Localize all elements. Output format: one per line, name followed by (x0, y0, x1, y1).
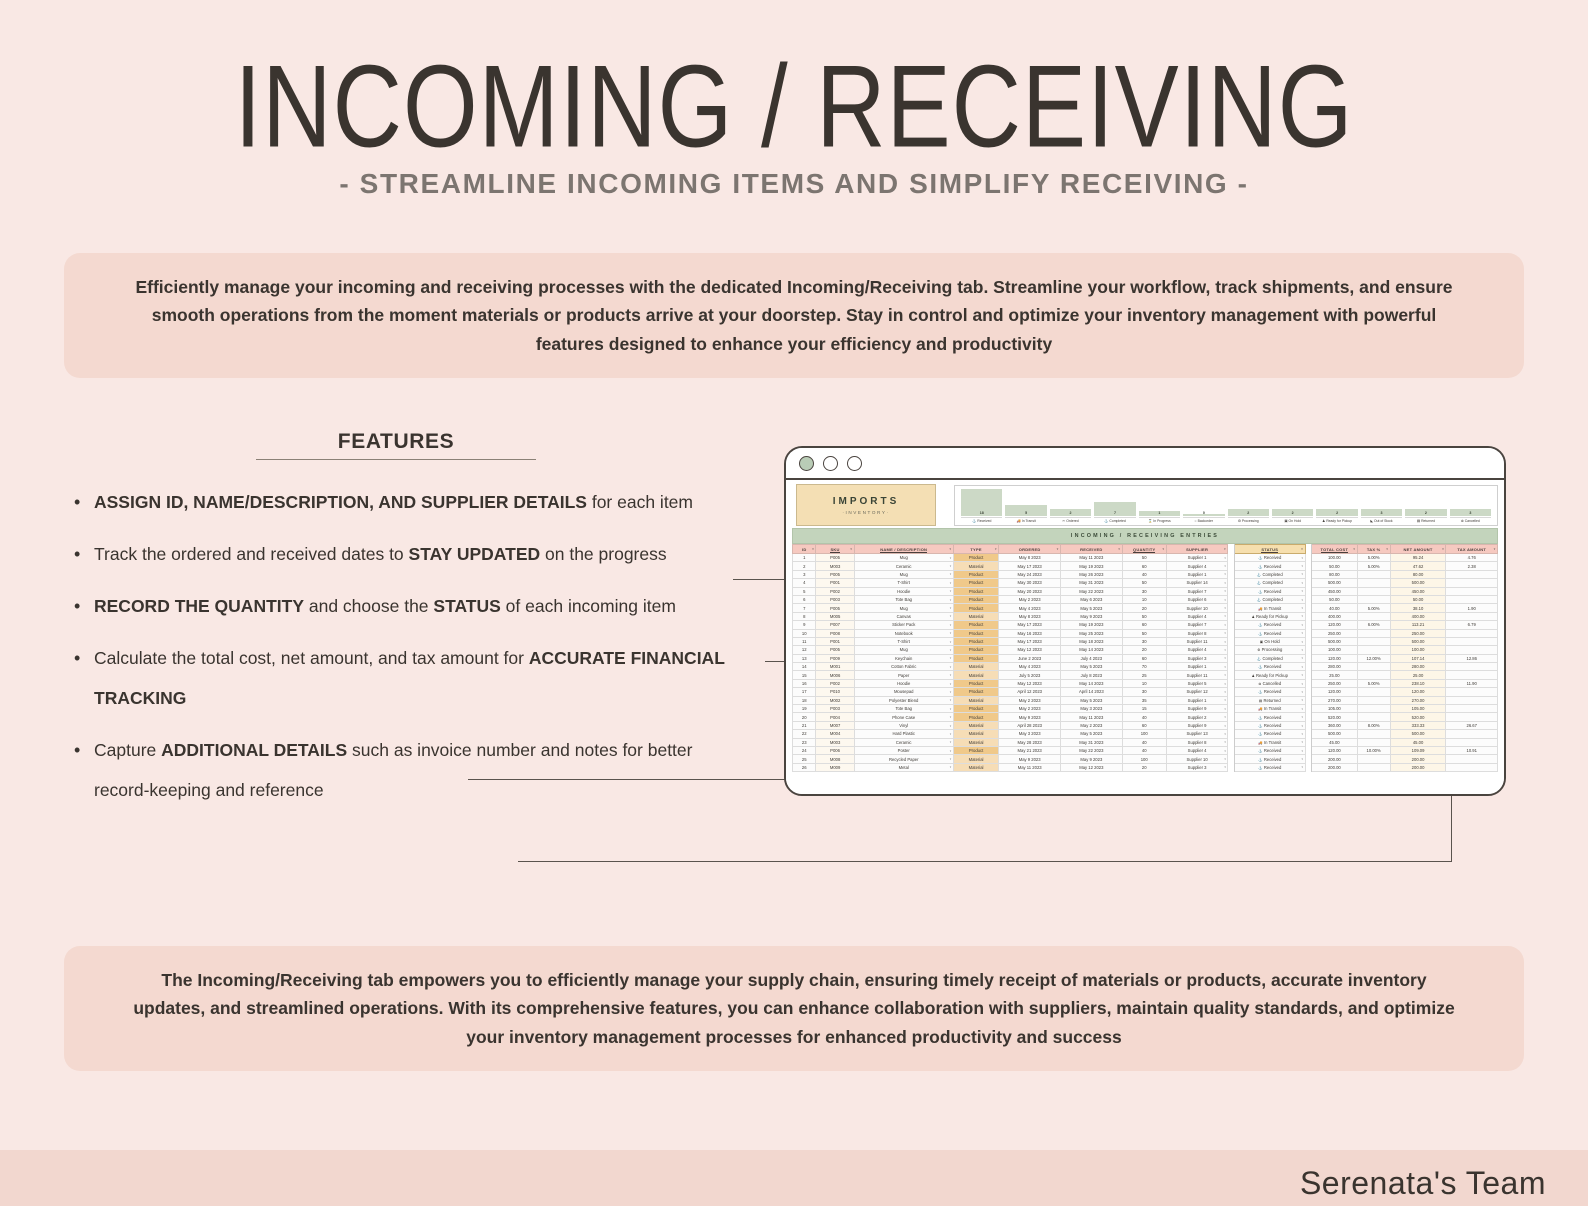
chevron-down-icon[interactable]: ▾ (950, 581, 952, 585)
cell-name[interactable]: Ceramic▾ (854, 738, 953, 746)
cell-type[interactable]: Material (953, 755, 999, 763)
cell-received[interactable]: May 5 2023 (1061, 730, 1123, 738)
chevron-down-icon[interactable]: ▾ (950, 631, 952, 635)
cell-supplier[interactable]: Supplier 1▾ (1166, 696, 1228, 704)
cell-net-amount[interactable]: 500.00 (1390, 579, 1446, 587)
cell-tax-amount[interactable] (1446, 637, 1498, 645)
cell-tax-pct[interactable] (1357, 755, 1390, 763)
cell-supplier[interactable]: Supplier 3▾ (1166, 654, 1228, 662)
cell-name[interactable]: Recycled Paper▾ (854, 755, 953, 763)
cell-net-amount[interactable]: 107.14 (1390, 654, 1446, 662)
chevron-down-icon[interactable]: ▾ (950, 690, 952, 694)
chevron-down-icon[interactable]: ▾ (1224, 614, 1226, 618)
cell-received[interactable]: May 18 2023 (1061, 637, 1123, 645)
cell-supplier[interactable]: Supplier 6▾ (1166, 595, 1228, 603)
cell-tax-amount[interactable] (1446, 696, 1498, 704)
cell-tax-amount[interactable]: 11.90 (1446, 679, 1498, 687)
cell-tax-pct[interactable] (1357, 738, 1390, 746)
cell-tax-amount[interactable]: 4.76 (1446, 554, 1498, 562)
cell-received[interactable]: May 31 2023 (1061, 738, 1123, 746)
table-row[interactable]: 20P004Phone Case▾ProductMay 9 2023May 11… (793, 713, 1498, 721)
cell-status[interactable]: ⚓Received▾ (1235, 763, 1305, 771)
table-row[interactable]: 24P006Poster▾ProductMay 21 2023May 22 20… (793, 746, 1498, 754)
col-status[interactable]: STATUS▾ (1235, 545, 1305, 554)
cell-sku[interactable]: M005 (816, 612, 854, 620)
cell-sku[interactable]: P008 (816, 629, 854, 637)
cell-total-cost[interactable]: 280.00 (1312, 663, 1358, 671)
cell-quantity[interactable]: 30 (1122, 587, 1166, 595)
cell-status[interactable]: 🚚In Transit▾ (1235, 604, 1305, 612)
cell-ordered[interactable]: May 17 2023 (999, 621, 1061, 629)
cell-net-amount[interactable]: 400.00 (1390, 612, 1446, 620)
cell-received[interactable]: May 9 2023 (1061, 612, 1123, 620)
cell-sku[interactable]: M006 (816, 671, 854, 679)
chevron-down-icon[interactable]: ▾ (950, 707, 952, 711)
cell-supplier[interactable]: Supplier 12▾ (1166, 688, 1228, 696)
cell-type[interactable]: Material (953, 696, 999, 704)
cell-status[interactable]: ⚙Processing▾ (1235, 646, 1305, 654)
cell-total-cost[interactable]: 105.00 (1312, 705, 1358, 713)
cell-name[interactable]: Keychain▾ (854, 654, 953, 662)
chevron-down-icon[interactable]: ▾ (1224, 707, 1226, 711)
filter-icon[interactable]: ▾ (1353, 547, 1355, 551)
cell-quantity[interactable]: 100 (1122, 755, 1166, 763)
cell-id[interactable]: 7 (793, 604, 816, 612)
cell-type[interactable]: Product (953, 637, 999, 645)
chevron-down-icon[interactable]: ▾ (1302, 715, 1304, 719)
cell-quantity[interactable]: 70 (1122, 663, 1166, 671)
chevron-down-icon[interactable]: ▾ (1224, 631, 1226, 635)
cell-received[interactable]: May 22 2023 (1061, 746, 1123, 754)
cell-status[interactable]: 🚚In Transit▾ (1235, 705, 1305, 713)
col-sku[interactable]: SKU▾ (816, 545, 854, 554)
cell-tax-amount[interactable]: 10.91 (1446, 746, 1498, 754)
cell-ordered[interactable]: May 2 2023 (999, 696, 1061, 704)
cell-quantity[interactable]: 60 (1122, 654, 1166, 662)
table-row[interactable]: 2M003Ceramic▾MaterialMay 17 2023May 19 2… (793, 562, 1498, 570)
cell-received[interactable]: May 5 2023 (1061, 696, 1123, 704)
chevron-down-icon[interactable]: ▾ (1224, 640, 1226, 644)
cell-sku[interactable]: P007 (816, 621, 854, 629)
table-row[interactable]: 21M007Vinyl▾MaterialApril 28 2023May 2 2… (793, 721, 1498, 729)
chevron-down-icon[interactable]: ▾ (1302, 740, 1304, 744)
chevron-down-icon[interactable]: ▾ (1224, 598, 1226, 602)
cell-name[interactable]: T-Shirt▾ (854, 637, 953, 645)
cell-received[interactable]: May 19 2023 (1061, 621, 1123, 629)
cell-id[interactable]: 8 (793, 612, 816, 620)
cell-tax-pct[interactable]: 8.00% (1357, 721, 1390, 729)
cell-tax-amount[interactable] (1446, 587, 1498, 595)
table-row[interactable]: 13P009Keychain▾ProductJune 2 2023July 4 … (793, 654, 1498, 662)
table-row[interactable]: 9P007Sticker Pack▾ProductMay 17 2023May … (793, 621, 1498, 629)
cell-net-amount[interactable]: 280.00 (1390, 663, 1446, 671)
cell-quantity[interactable]: 30 (1122, 688, 1166, 696)
cell-supplier[interactable]: Supplier 13▾ (1166, 730, 1228, 738)
chevron-down-icon[interactable]: ▾ (1302, 640, 1304, 644)
chevron-down-icon[interactable]: ▾ (1302, 673, 1304, 677)
table-row[interactable]: 1P005Mug▾ProductMay 8 2023May 11 202350S… (793, 554, 1498, 562)
cell-id[interactable]: 17 (793, 688, 816, 696)
cell-total-cost[interactable]: 500.00 (1312, 730, 1358, 738)
cell-id[interactable]: 9 (793, 621, 816, 629)
cell-tax-pct[interactable] (1357, 612, 1390, 620)
cell-status[interactable]: ⚓Received▾ (1235, 554, 1305, 562)
cell-supplier[interactable]: Supplier 10▾ (1166, 755, 1228, 763)
cell-id[interactable]: 21 (793, 721, 816, 729)
cell-tax-pct[interactable]: 10.00% (1357, 746, 1390, 754)
cell-status[interactable]: ⚓Received▾ (1235, 688, 1305, 696)
cell-net-amount[interactable]: 100.00 (1390, 646, 1446, 654)
table-row[interactable]: 4P001T-Shirt▾ProductMay 30 2023May 31 20… (793, 579, 1498, 587)
cell-sku[interactable]: M004 (816, 730, 854, 738)
cell-id[interactable]: 15 (793, 671, 816, 679)
cell-total-cost[interactable]: 50.00 (1312, 595, 1358, 603)
cell-name[interactable]: Cotton Fabric▾ (854, 663, 953, 671)
chevron-down-icon[interactable]: ▾ (1302, 757, 1304, 761)
cell-tax-pct[interactable] (1357, 696, 1390, 704)
table-row[interactable]: 3P005Mug▾ProductMay 24 2023May 26 202340… (793, 570, 1498, 578)
cell-received[interactable]: July 8 2023 (1061, 671, 1123, 679)
cell-quantity[interactable]: 20 (1122, 646, 1166, 654)
cell-tax-amount[interactable] (1446, 629, 1498, 637)
cell-type[interactable]: Product (953, 621, 999, 629)
cell-received[interactable]: May 9 2023 (1061, 755, 1123, 763)
cell-total-cost[interactable]: 200.00 (1312, 755, 1358, 763)
cell-name[interactable]: Phone Case▾ (854, 713, 953, 721)
cell-tax-pct[interactable] (1357, 705, 1390, 713)
cell-net-amount[interactable]: 450.00 (1390, 587, 1446, 595)
cell-status[interactable]: ⚓Completed▾ (1235, 654, 1305, 662)
cell-name[interactable]: Mug▾ (854, 646, 953, 654)
chevron-down-icon[interactable]: ▾ (950, 572, 952, 576)
col-quantity[interactable]: QUANTITY▾ (1122, 545, 1166, 554)
cell-type[interactable]: Product (953, 746, 999, 754)
cell-ordered[interactable]: May 8 2023 (999, 612, 1061, 620)
cell-total-cost[interactable]: 520.00 (1312, 713, 1358, 721)
cell-net-amount[interactable]: 250.00 (1390, 629, 1446, 637)
chevron-down-icon[interactable]: ▾ (950, 598, 952, 602)
cell-type[interactable]: Material (953, 730, 999, 738)
chevron-down-icon[interactable]: ▾ (1224, 732, 1226, 736)
cell-type[interactable]: Product (953, 646, 999, 654)
cell-received[interactable]: May 14 2023 (1061, 646, 1123, 654)
cell-supplier[interactable]: Supplier 5▾ (1166, 679, 1228, 687)
chevron-down-icon[interactable]: ▾ (950, 715, 952, 719)
cell-name[interactable]: T-Shirt▾ (854, 579, 953, 587)
cell-id[interactable]: 5 (793, 587, 816, 595)
cell-sku[interactable]: P003 (816, 595, 854, 603)
cell-type[interactable]: Product (953, 587, 999, 595)
cell-status[interactable]: ⚓Received▾ (1235, 587, 1305, 595)
cell-type[interactable]: Material (953, 763, 999, 771)
cell-total-cost[interactable]: 40.00 (1312, 604, 1358, 612)
cell-name[interactable]: Mousepad▾ (854, 688, 953, 696)
chevron-down-icon[interactable]: ▾ (1224, 589, 1226, 593)
cell-total-cost[interactable]: 500.00 (1312, 637, 1358, 645)
cell-tax-amount[interactable] (1446, 755, 1498, 763)
chevron-down-icon[interactable]: ▾ (950, 665, 952, 669)
chevron-down-icon[interactable]: ▾ (950, 656, 952, 660)
cell-ordered[interactable]: June 2 2023 (999, 654, 1061, 662)
chevron-down-icon[interactable]: ▾ (1224, 682, 1226, 686)
cell-type[interactable]: Product (953, 629, 999, 637)
cell-received[interactable]: May 2 2023 (1061, 721, 1123, 729)
cell-supplier[interactable]: Supplier 4▾ (1166, 646, 1228, 654)
chevron-down-icon[interactable]: ▾ (1302, 589, 1304, 593)
cell-tax-pct[interactable] (1357, 713, 1390, 721)
chevron-down-icon[interactable]: ▾ (1302, 749, 1304, 753)
cell-type[interactable]: Material (953, 721, 999, 729)
cell-total-cost[interactable]: 250.00 (1312, 629, 1358, 637)
cell-sku[interactable]: P006 (816, 746, 854, 754)
cell-sku[interactable]: P004 (816, 713, 854, 721)
chevron-down-icon[interactable]: ▾ (950, 673, 952, 677)
cell-status[interactable]: ▣On Hold▾ (1235, 637, 1305, 645)
cell-received[interactable]: May 3 2023 (1061, 705, 1123, 713)
cell-tax-amount[interactable] (1446, 738, 1498, 746)
chevron-down-icon[interactable]: ▾ (1224, 665, 1226, 669)
cell-sku[interactable]: M001 (816, 663, 854, 671)
table-row[interactable]: 6P003Tote Bag▾ProductMay 2 2023May 6 202… (793, 595, 1498, 603)
cell-quantity[interactable]: 50 (1122, 554, 1166, 562)
cell-tax-amount[interactable]: 2.38 (1446, 562, 1498, 570)
cell-type[interactable]: Product (953, 713, 999, 721)
chevron-down-icon[interactable]: ▾ (1302, 623, 1304, 627)
cell-id[interactable]: 2 (793, 562, 816, 570)
cell-sku[interactable]: M007 (816, 721, 854, 729)
cell-net-amount[interactable]: 80.00 (1390, 570, 1446, 578)
cell-sku[interactable]: P002 (816, 679, 854, 687)
cell-total-cost[interactable]: 120.00 (1312, 654, 1358, 662)
cell-tax-amount[interactable]: 26.67 (1446, 721, 1498, 729)
cell-received[interactable]: May 19 2023 (1061, 562, 1123, 570)
cell-status[interactable]: ⚓Completed▾ (1235, 595, 1305, 603)
cell-tax-amount[interactable] (1446, 671, 1498, 679)
cell-supplier[interactable]: Supplier 4▾ (1166, 746, 1228, 754)
cell-total-cost[interactable]: 25.00 (1312, 671, 1358, 679)
chevron-down-icon[interactable]: ▾ (1224, 724, 1226, 728)
col-tax-amount[interactable]: TAX AMOUNT▾ (1446, 545, 1498, 554)
cell-type[interactable]: Product (953, 679, 999, 687)
col-id[interactable]: ID▾ (793, 545, 816, 554)
cell-net-amount[interactable]: 500.00 (1390, 637, 1446, 645)
cell-quantity[interactable]: 50 (1122, 579, 1166, 587)
cell-quantity[interactable]: 15 (1122, 705, 1166, 713)
table-row[interactable]: 14M001Cotton Fabric▾MaterialMay 4 2023Ma… (793, 663, 1498, 671)
cell-type[interactable]: Product (953, 579, 999, 587)
cell-net-amount[interactable]: 25.00 (1390, 671, 1446, 679)
cell-id[interactable]: 3 (793, 570, 816, 578)
cell-tax-pct[interactable] (1357, 595, 1390, 603)
cell-sku[interactable]: P003 (816, 705, 854, 713)
cell-total-cost[interactable]: 50.00 (1312, 562, 1358, 570)
chevron-down-icon[interactable]: ▾ (1302, 581, 1304, 585)
cell-sku[interactable]: P002 (816, 587, 854, 595)
cell-type[interactable]: Product (953, 554, 999, 562)
cell-ordered[interactable]: April 12 2023 (999, 688, 1061, 696)
chevron-down-icon[interactable]: ▾ (950, 757, 952, 761)
chevron-down-icon[interactable]: ▾ (950, 623, 952, 627)
cell-ordered[interactable]: May 24 2023 (999, 570, 1061, 578)
cell-id[interactable]: 4 (793, 579, 816, 587)
cell-quantity[interactable]: 40 (1122, 713, 1166, 721)
cell-net-amount[interactable]: 105.00 (1390, 705, 1446, 713)
cell-net-amount[interactable]: 200.00 (1390, 755, 1446, 763)
cell-ordered[interactable]: May 21 2023 (999, 746, 1061, 754)
cell-supplier[interactable]: Supplier 14▾ (1166, 579, 1228, 587)
filter-icon[interactable]: ▾ (1118, 547, 1120, 551)
cell-total-cost[interactable]: 270.00 (1312, 696, 1358, 704)
cell-net-amount[interactable]: 113.21 (1390, 621, 1446, 629)
chevron-down-icon[interactable]: ▾ (1224, 648, 1226, 652)
cell-tax-pct[interactable]: 12.00% (1357, 654, 1390, 662)
chevron-down-icon[interactable]: ▾ (1302, 564, 1304, 568)
cell-status[interactable]: ⚓Received▾ (1235, 562, 1305, 570)
table-row[interactable]: 17P010Mousepad▾ProductApril 12 2023April… (793, 688, 1498, 696)
cell-net-amount[interactable]: 45.00 (1390, 738, 1446, 746)
cell-net-amount[interactable]: 120.00 (1390, 688, 1446, 696)
cell-status[interactable]: ⚓Received▾ (1235, 629, 1305, 637)
cell-name[interactable]: Tote Bag▾ (854, 595, 953, 603)
chevron-down-icon[interactable]: ▾ (1302, 614, 1304, 618)
cell-tax-amount[interactable] (1446, 763, 1498, 771)
cell-ordered[interactable]: May 2 2023 (999, 595, 1061, 603)
cell-quantity[interactable]: 40 (1122, 746, 1166, 754)
cell-received[interactable]: May 22 2023 (1061, 587, 1123, 595)
cell-status[interactable]: ♟Ready for Pickup▾ (1235, 671, 1305, 679)
cell-status[interactable]: ⚓Received▾ (1235, 746, 1305, 754)
cell-tax-pct[interactable]: 5.00% (1357, 562, 1390, 570)
cell-name[interactable]: Vinyl▾ (854, 721, 953, 729)
chevron-down-icon[interactable]: ▾ (950, 724, 952, 728)
cell-total-cost[interactable]: 500.00 (1312, 579, 1358, 587)
cell-tax-amount[interactable]: 12.86 (1446, 654, 1498, 662)
cell-sku[interactable]: P005 (816, 554, 854, 562)
chevron-down-icon[interactable]: ▾ (1224, 765, 1226, 769)
chevron-down-icon[interactable]: ▾ (1224, 749, 1226, 753)
cell-status[interactable]: 🚚In Transit▾ (1235, 738, 1305, 746)
cell-name[interactable]: Mug▾ (854, 604, 953, 612)
cell-quantity[interactable]: 10 (1122, 679, 1166, 687)
cell-received[interactable]: April 14 2023 (1061, 688, 1123, 696)
cell-quantity[interactable]: 10 (1122, 595, 1166, 603)
col-name[interactable]: NAME / DESCRIPTION▾ (854, 545, 953, 554)
cell-type[interactable]: Material (953, 663, 999, 671)
col-total-cost[interactable]: TOTAL COST▾ (1312, 545, 1358, 554)
cell-received[interactable]: May 12 2023 (1061, 763, 1123, 771)
filter-icon[interactable]: ▾ (1057, 547, 1059, 551)
cell-ordered[interactable]: April 28 2023 (999, 721, 1061, 729)
cell-sku[interactable]: M002 (816, 696, 854, 704)
table-row[interactable]: 5P002Hoodie▾ProductMay 20 2023May 22 202… (793, 587, 1498, 595)
cell-tax-pct[interactable] (1357, 646, 1390, 654)
cell-ordered[interactable]: May 12 2023 (999, 646, 1061, 654)
col-tax-pct[interactable]: TAX %▾ (1357, 545, 1390, 554)
cell-tax-pct[interactable]: 5.00% (1357, 554, 1390, 562)
cell-sku[interactable]: P001 (816, 637, 854, 645)
cell-id[interactable]: 24 (793, 746, 816, 754)
cell-tax-pct[interactable] (1357, 637, 1390, 645)
cell-supplier[interactable]: Supplier 10▾ (1166, 604, 1228, 612)
cell-total-cost[interactable]: 80.00 (1312, 570, 1358, 578)
cell-ordered[interactable]: May 11 2023 (999, 763, 1061, 771)
cell-supplier[interactable]: Supplier 11▾ (1166, 671, 1228, 679)
cell-total-cost[interactable]: 120.00 (1312, 746, 1358, 754)
cell-ordered[interactable]: May 28 2023 (999, 738, 1061, 746)
chevron-down-icon[interactable]: ▾ (950, 589, 952, 593)
cell-quantity[interactable]: 40 (1122, 738, 1166, 746)
cell-sku[interactable]: P005 (816, 570, 854, 578)
cell-id[interactable]: 12 (793, 646, 816, 654)
cell-status[interactable]: ▤Returned▾ (1235, 696, 1305, 704)
cell-quantity[interactable]: 20 (1122, 763, 1166, 771)
cell-name[interactable]: Canvas▾ (854, 612, 953, 620)
table-row[interactable]: 11P001T-Shirt▾ProductMay 17 2023May 18 2… (793, 637, 1498, 645)
cell-net-amount[interactable]: 95.24 (1390, 554, 1446, 562)
chevron-down-icon[interactable]: ▾ (950, 765, 952, 769)
cell-tax-amount[interactable] (1446, 612, 1498, 620)
col-type[interactable]: TYPE▾ (953, 545, 999, 554)
cell-quantity[interactable]: 60 (1122, 721, 1166, 729)
cell-tax-amount[interactable] (1446, 713, 1498, 721)
cell-type[interactable]: Material (953, 671, 999, 679)
table-row[interactable]: 16P002Hoodie▾ProductMay 12 2023May 14 20… (793, 679, 1498, 687)
chevron-down-icon[interactable]: ▾ (1302, 690, 1304, 694)
cell-name[interactable]: Mug▾ (854, 570, 953, 578)
filter-icon[interactable]: ▾ (1301, 547, 1303, 551)
chevron-down-icon[interactable]: ▾ (1302, 732, 1304, 736)
cell-name[interactable]: Metal▾ (854, 763, 953, 771)
cell-tax-pct[interactable] (1357, 587, 1390, 595)
chevron-down-icon[interactable]: ▾ (1224, 623, 1226, 627)
cell-id[interactable]: 22 (793, 730, 816, 738)
cell-supplier[interactable]: Supplier 1▾ (1166, 663, 1228, 671)
cell-id[interactable]: 14 (793, 663, 816, 671)
filter-icon[interactable]: ▾ (1162, 547, 1164, 551)
chevron-down-icon[interactable]: ▾ (950, 648, 952, 652)
col-supplier[interactable]: SUPPLIER▾ (1166, 545, 1228, 554)
chevron-down-icon[interactable]: ▾ (1224, 698, 1226, 702)
chevron-down-icon[interactable]: ▾ (1224, 564, 1226, 568)
cell-supplier[interactable]: Supplier 8▾ (1166, 629, 1228, 637)
cell-sku[interactable]: P009 (816, 654, 854, 662)
cell-id[interactable]: 25 (793, 755, 816, 763)
table-row[interactable]: 10P008Notebook▾ProductMay 16 2023May 25 … (793, 629, 1498, 637)
filter-icon[interactable]: ▾ (1224, 547, 1226, 551)
cell-type[interactable]: Material (953, 612, 999, 620)
cell-tax-pct[interactable] (1357, 730, 1390, 738)
chevron-down-icon[interactable]: ▾ (950, 698, 952, 702)
cell-net-amount[interactable]: 270.00 (1390, 696, 1446, 704)
cell-type[interactable]: Product (953, 595, 999, 603)
chevron-down-icon[interactable]: ▾ (950, 564, 952, 568)
cell-ordered[interactable]: May 17 2023 (999, 637, 1061, 645)
chevron-down-icon[interactable]: ▾ (1224, 572, 1226, 576)
cell-tax-amount[interactable] (1446, 570, 1498, 578)
cell-supplier[interactable]: Supplier 3▾ (1166, 763, 1228, 771)
table-row[interactable]: 8M005Canvas▾MaterialMay 8 2023May 9 2023… (793, 612, 1498, 620)
cell-supplier[interactable]: Supplier 9▾ (1166, 705, 1228, 713)
cell-tax-amount[interactable] (1446, 730, 1498, 738)
chevron-down-icon[interactable]: ▾ (1224, 556, 1226, 560)
cell-id[interactable]: 26 (793, 763, 816, 771)
table-row[interactable]: 19P003Tote Bag▾ProductMay 2 2023May 3 20… (793, 705, 1498, 713)
cell-supplier[interactable]: Supplier 7▾ (1166, 621, 1228, 629)
cell-tax-amount[interactable] (1446, 705, 1498, 713)
cell-supplier[interactable]: Supplier 8▾ (1166, 738, 1228, 746)
chevron-down-icon[interactable]: ▾ (1224, 581, 1226, 585)
cell-name[interactable]: Hoodie▾ (854, 679, 953, 687)
